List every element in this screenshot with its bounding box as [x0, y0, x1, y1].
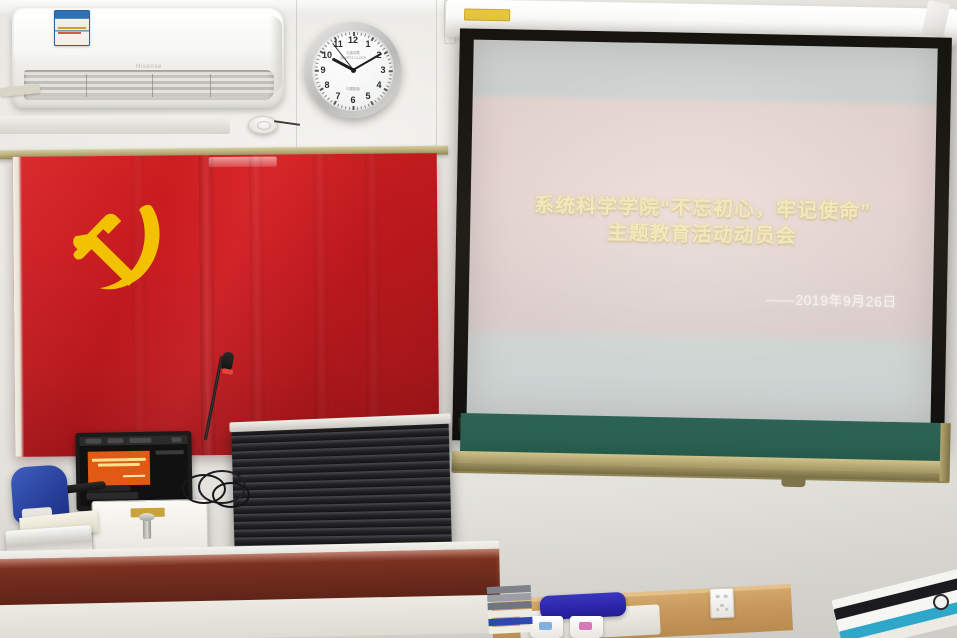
- clock-tick: [318, 85, 321, 87]
- wall-seam: [436, 0, 437, 150]
- clock-tick: [374, 39, 377, 42]
- ac-air-vent: [24, 70, 274, 100]
- clock-tick: [364, 34, 366, 37]
- clock-tick: [371, 101, 374, 105]
- energy-efficiency-label: [54, 10, 90, 46]
- clock-numeral: 1: [365, 39, 370, 49]
- clock-tick: [388, 58, 391, 60]
- clock-numeral: 6: [350, 95, 355, 105]
- clock-tick: [315, 62, 318, 64]
- clock-tick: [384, 51, 388, 54]
- clock-tick: [316, 58, 319, 60]
- ac-right-shell: [270, 16, 282, 94]
- clock-numeral: 8: [325, 80, 330, 90]
- clock-tick: [380, 45, 383, 48]
- white-mug: [530, 616, 563, 638]
- clock-tick: [327, 97, 330, 100]
- clock-tick: [334, 101, 337, 105]
- green-chalkboard: [451, 413, 950, 495]
- clock-tick: [368, 35, 370, 38]
- stacked-books: [487, 585, 534, 638]
- slide-date: ——2019年9月26日: [766, 289, 897, 312]
- clock-tick: [386, 85, 389, 87]
- air-conditioner: Hisense: [12, 8, 284, 108]
- clock-tick: [349, 107, 350, 110]
- clock-tick: [380, 95, 383, 98]
- clock-tick: [382, 48, 385, 51]
- clock-center-cap: [351, 68, 356, 73]
- clock-tick: [389, 62, 392, 64]
- clock-tick: [353, 106, 355, 110]
- clock-numeral: 7: [335, 91, 340, 101]
- clock-tick: [345, 33, 347, 36]
- chalkboard-right-edge: [939, 423, 950, 481]
- clock-tick: [345, 106, 347, 109]
- white-mug: [570, 616, 603, 638]
- slide-title: 系统科学学院“不忘初心，牢记使命” 主题教育活动动员会: [470, 192, 935, 254]
- laptop-screen[interactable]: [79, 435, 188, 506]
- clock-tick: [322, 92, 325, 95]
- clock-tick: [337, 35, 339, 38]
- flag-hoist-edge: [13, 157, 25, 457]
- wall-seam: [296, 0, 297, 150]
- clock-brand-1: 石英钟表: [346, 50, 360, 55]
- control-box-latch[interactable]: [143, 517, 151, 539]
- clock-tick: [315, 78, 318, 80]
- clock-numeral: 12: [348, 35, 358, 45]
- clock-tick: [377, 42, 380, 45]
- clock-tick: [389, 78, 392, 80]
- wooden-podium: [0, 541, 501, 638]
- clock-numeral: 4: [376, 80, 381, 90]
- cable-bundle: [182, 470, 258, 514]
- laptop-slide-preview: [88, 451, 151, 486]
- ribbed-equipment-cover: [231, 420, 451, 550]
- clock-tick: [360, 33, 362, 36]
- clock-tick: [384, 88, 388, 91]
- clock-tick: [357, 107, 358, 110]
- clock-brand-3: 中国制造: [346, 86, 360, 91]
- smoke-detector-icon: [248, 116, 278, 134]
- chalk-tray-bracket: [781, 476, 805, 488]
- clock-numeral: 3: [380, 65, 385, 75]
- equipment-base-tray: [0, 116, 230, 134]
- clock-tick: [315, 66, 318, 67]
- clock-tick: [382, 92, 385, 95]
- classroom-photo: Hisense 121234567891011 石英钟表 QUARTZ CLOC…: [0, 0, 957, 638]
- clock-tick: [368, 104, 370, 107]
- clock-tick: [389, 70, 393, 72]
- communist-party-flag: [13, 153, 440, 457]
- hammer-and-sickle-emblem: [65, 197, 172, 302]
- clock-tick: [388, 82, 391, 84]
- clock-tick: [389, 66, 392, 67]
- clock-face: 121234567891011 石英钟表 QUARTZ CLOCK 中国制造: [312, 29, 394, 111]
- warning-label: [464, 8, 510, 21]
- clock-tick: [316, 82, 319, 84]
- clock-tick: [386, 55, 389, 57]
- clock-tick: [341, 105, 343, 108]
- clock-tick: [324, 45, 327, 48]
- wall-power-outlet[interactable]: [709, 588, 734, 619]
- clock-tick: [341, 34, 343, 37]
- clock-tick: [315, 74, 318, 75]
- clock-tick: [374, 100, 377, 103]
- laptop-notes-pane: [156, 450, 184, 454]
- clock-tick: [364, 105, 366, 108]
- clock-tick: [315, 70, 319, 72]
- clock-tick: [330, 100, 333, 103]
- laptop-playback-bar[interactable]: [86, 492, 138, 500]
- clock-tick: [320, 88, 324, 91]
- clock-tick: [324, 95, 327, 98]
- wall-clock: 121234567891011 石英钟表 QUARTZ CLOCK 中国制造: [305, 22, 401, 118]
- clock-tick: [360, 106, 362, 109]
- clock-tick: [337, 104, 339, 107]
- clock-numeral: 5: [365, 91, 370, 101]
- ribbed-panel: [231, 420, 451, 550]
- flag-tape: [209, 157, 277, 168]
- clock-numeral: 9: [320, 65, 325, 75]
- projection-screen-surface: 系统科学学院“不忘初心，牢记使命” 主题教育活动动员会 ——2019年9月26日: [467, 40, 938, 424]
- laptop-toolbar: [79, 435, 187, 446]
- clock-numeral: 10: [322, 50, 332, 60]
- clock-tick: [318, 55, 321, 57]
- clock-tick: [389, 74, 392, 75]
- projection-screen-frame: 系统科学学院“不忘初心，牢记使命” 主题教育活动动员会 ——2019年9月26日: [452, 28, 952, 449]
- clock-tick: [327, 42, 330, 45]
- clock-tick: [377, 97, 380, 100]
